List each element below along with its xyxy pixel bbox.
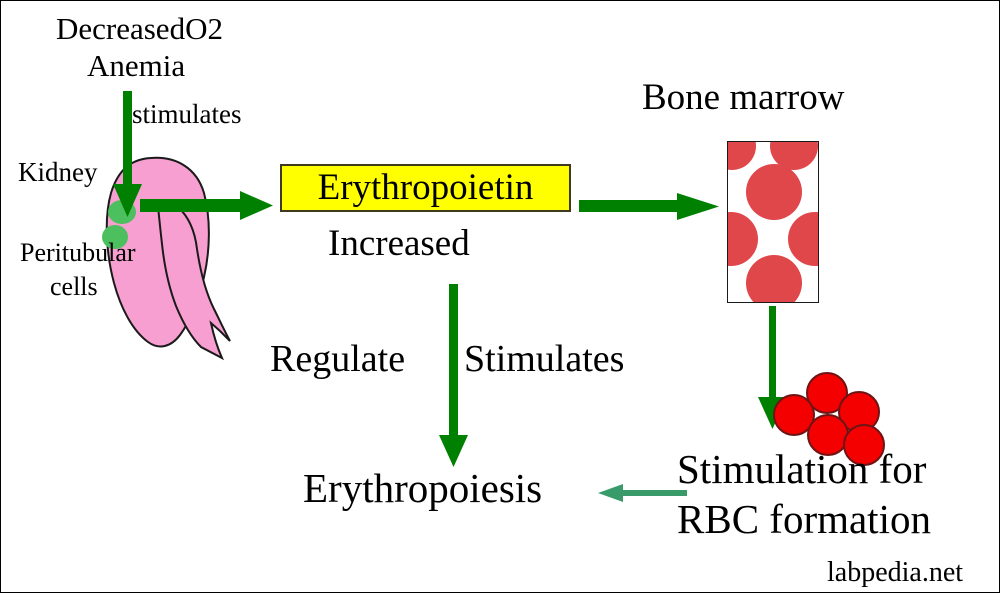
marrow-dot: [746, 164, 802, 220]
diagram-canvas: DecreasedO2 Anemia stimulates Kidney Per…: [0, 0, 1000, 593]
increased-label: Increased: [328, 225, 470, 264]
erythropoietin-box: Erythropoietin: [280, 164, 571, 212]
marrow-dot: [788, 212, 819, 266]
stimulation-rbc-label-line1: Stimulation for: [677, 448, 926, 491]
bone-marrow-label: Bone marrow: [642, 79, 844, 118]
watermark-label: labpedia.net: [827, 558, 963, 587]
epo-to-marrow-arrow: [579, 193, 719, 220]
stimulation-rbc-label-line2: RBC formation: [677, 498, 931, 541]
bone-marrow-rect: [727, 141, 819, 303]
anemia-label: Anemia: [87, 50, 185, 83]
marrow-dot: [727, 212, 758, 266]
decreased-o2-label: DecreasedO2: [56, 13, 223, 46]
rbc-to-erythropoiesis-arrow: [598, 484, 687, 502]
peritubular-label-line2: cells: [50, 273, 98, 300]
marrow-dot: [727, 141, 756, 170]
kidney-label: Kidney: [18, 158, 97, 186]
stimulates-mid-label: Stimulates: [464, 340, 624, 380]
marrow-dot: [784, 302, 819, 303]
erythropoietin-label: Erythropoietin: [282, 166, 569, 210]
marrow-dot: [727, 302, 756, 303]
marrow-dot: [746, 255, 802, 303]
regulate-label: Regulate: [270, 340, 405, 380]
erythropoiesis-label: Erythropoiesis: [303, 467, 542, 510]
peritubular-label-line1: Peritubular: [20, 239, 136, 266]
stimulates-top-label: stimulates: [132, 100, 242, 128]
